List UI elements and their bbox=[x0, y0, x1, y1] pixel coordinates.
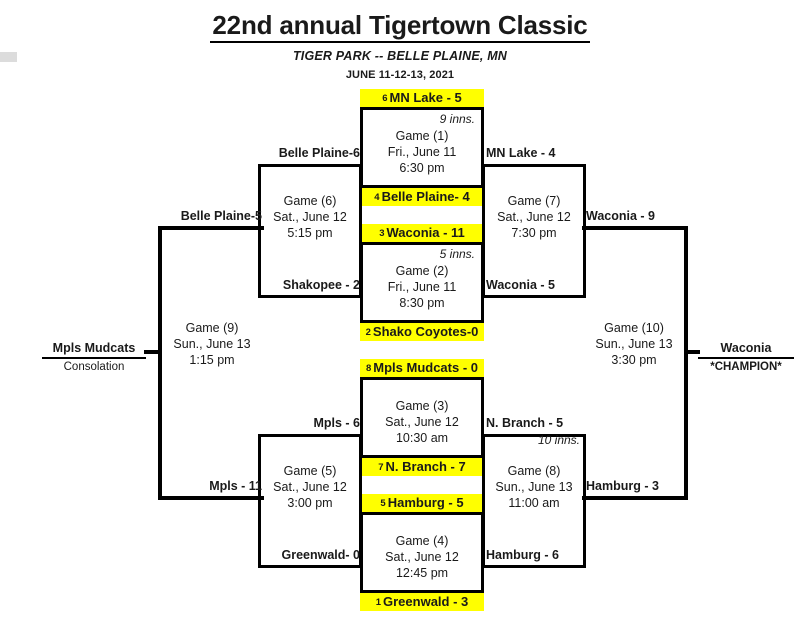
game1-time: 6:30 pm bbox=[363, 160, 481, 176]
consolation-label: Mpls Mudcats Consolation bbox=[42, 341, 146, 375]
game6-day: Sat., June 12 bbox=[256, 209, 364, 225]
game2-top-team-label: Waconia - 11 bbox=[387, 225, 465, 240]
game3-bottom-team: 7N. Branch - 7 bbox=[360, 458, 484, 476]
game3-top-team-label: Mpls Mudcats - 0 bbox=[373, 360, 478, 375]
game1-bottom-team-label: Belle Plaine- 4 bbox=[382, 189, 470, 204]
game8-bottom-team: Hamburg - 6 bbox=[486, 548, 606, 563]
game3-label: Game (3) bbox=[363, 398, 481, 414]
game9-day: Sun., June 13 bbox=[158, 336, 266, 352]
game9-top-team: Belle Plaine-5 bbox=[150, 209, 262, 224]
game7-day: Sat., June 12 bbox=[480, 209, 588, 225]
game10-bottom-team: Hamburg - 3 bbox=[586, 479, 706, 494]
game1-bottom-seed: 4 bbox=[374, 192, 379, 203]
dates-subtitle: JUNE 11-12-13, 2021 bbox=[0, 69, 800, 81]
page-title: 22nd annual Tigertown Classic bbox=[210, 6, 589, 43]
game4-top-team: 5Hamburg - 5 bbox=[360, 494, 484, 512]
game1-top-team-label: MN Lake - 5 bbox=[390, 90, 462, 105]
game4-bottom-team: 1Greenwald - 3 bbox=[360, 593, 484, 611]
game5-bottom-team: Greenwald- 0 bbox=[248, 548, 360, 563]
game2-bottom-team-label: Shako Coyotes-0 bbox=[373, 324, 478, 339]
game10-time: 3:30 pm bbox=[582, 352, 686, 368]
game9-bracket-bottom-line bbox=[158, 496, 264, 500]
game9-label: Game (9) bbox=[160, 320, 264, 336]
game8-time: 11:00 am bbox=[482, 495, 586, 511]
bracket-header: 22nd annual Tigertown Classic TIGER PARK… bbox=[0, 0, 800, 81]
venue-subtitle: TIGER PARK -- BELLE PLAINE, MN bbox=[0, 49, 800, 63]
game8-day: Sun., June 13 bbox=[480, 479, 588, 495]
game9-bottom-team: Mpls - 11 bbox=[150, 479, 262, 494]
game4-time: 12:45 pm bbox=[363, 565, 481, 581]
game9-time: 1:15 pm bbox=[160, 352, 264, 368]
game10-day: Sun., June 13 bbox=[580, 336, 688, 352]
game1-top-team: 6MN Lake - 5 bbox=[360, 89, 484, 107]
game5-time: 3:00 pm bbox=[258, 495, 362, 511]
game7-label: Game (7) bbox=[482, 193, 586, 209]
game10-label: Game (10) bbox=[582, 320, 686, 336]
game2-time: 8:30 pm bbox=[363, 295, 481, 311]
game3-bottom-team-label: N. Branch - 7 bbox=[386, 459, 466, 474]
game3-top-seed: 8 bbox=[366, 363, 371, 374]
game2-bottom-seed: 2 bbox=[366, 327, 371, 338]
game1-label: Game (1) bbox=[363, 128, 481, 144]
game6-time: 5:15 pm bbox=[258, 225, 362, 241]
game1-top-seed: 6 bbox=[382, 93, 387, 104]
game2-day: Fri., June 11 bbox=[363, 279, 481, 295]
champion-label: Waconia *CHAMPION* bbox=[698, 341, 794, 375]
champion-team-name: Waconia bbox=[698, 341, 794, 359]
game4-label: Game (4) bbox=[363, 533, 481, 549]
game2-box: 5 inns. Game (2) Fri., June 11 8:30 pm bbox=[360, 242, 484, 323]
game7-bottom-team: Waconia - 5 bbox=[486, 278, 606, 293]
game4-bottom-team-label: Greenwald - 3 bbox=[383, 594, 468, 609]
game3-day: Sat., June 12 bbox=[363, 414, 481, 430]
game5-top-team: Mpls - 6 bbox=[248, 416, 360, 431]
game5-label: Game (5) bbox=[258, 463, 362, 479]
tournament-bracket: 22nd annual Tigertown Classic TIGER PARK… bbox=[0, 0, 800, 640]
gray-artifact-mark bbox=[0, 52, 17, 62]
champion-sub-label: *CHAMPION* bbox=[698, 359, 794, 375]
game2-top-seed: 3 bbox=[379, 228, 384, 239]
game4-box: Game (4) Sat., June 12 12:45 pm bbox=[360, 512, 484, 593]
game4-day: Sat., June 12 bbox=[363, 549, 481, 565]
game5-day: Sat., June 12 bbox=[256, 479, 364, 495]
game4-top-seed: 5 bbox=[380, 498, 385, 509]
game6-bottom-team: Shakopee - 2 bbox=[248, 278, 360, 293]
game1-box: 9 inns. Game (1) Fri., June 11 6:30 pm bbox=[360, 107, 484, 188]
game4-top-team-label: Hamburg - 5 bbox=[388, 495, 464, 510]
game2-bottom-team: 2Shako Coyotes-0 bbox=[360, 323, 484, 341]
game1-bottom-team: 4Belle Plaine- 4 bbox=[360, 188, 484, 206]
game2-label: Game (2) bbox=[363, 263, 481, 279]
game4-bottom-seed: 1 bbox=[376, 597, 381, 608]
game3-time: 10:30 am bbox=[363, 430, 481, 446]
game7-top-team: MN Lake - 4 bbox=[486, 146, 606, 161]
game7-time: 7:30 pm bbox=[482, 225, 586, 241]
game6-label: Game (6) bbox=[258, 193, 362, 209]
game8-innings-note: 10 inns. bbox=[482, 433, 586, 447]
game6-top-team: Belle Plaine-6 bbox=[248, 146, 360, 161]
consolation-sub-label: Consolation bbox=[42, 359, 146, 375]
game2-innings-note: 5 inns. bbox=[440, 247, 475, 261]
game1-day: Fri., June 11 bbox=[363, 144, 481, 160]
game9-bracket-top-line bbox=[158, 226, 264, 230]
game3-bottom-seed: 7 bbox=[378, 462, 383, 473]
game10-top-team: Waconia - 9 bbox=[586, 209, 706, 224]
game8-top-team: N. Branch - 5 bbox=[486, 416, 606, 431]
game8-label: Game (8) bbox=[482, 463, 586, 479]
game3-top-team: 8Mpls Mudcats - 0 bbox=[360, 359, 484, 377]
game10-bracket-bottom-line bbox=[582, 496, 688, 500]
game10-bracket-top-line bbox=[582, 226, 688, 230]
game1-innings-note: 9 inns. bbox=[440, 112, 475, 126]
consolation-team-name: Mpls Mudcats bbox=[42, 341, 146, 359]
game2-top-team: 3Waconia - 11 bbox=[360, 224, 484, 242]
game3-box: Game (3) Sat., June 12 10:30 am bbox=[360, 377, 484, 458]
